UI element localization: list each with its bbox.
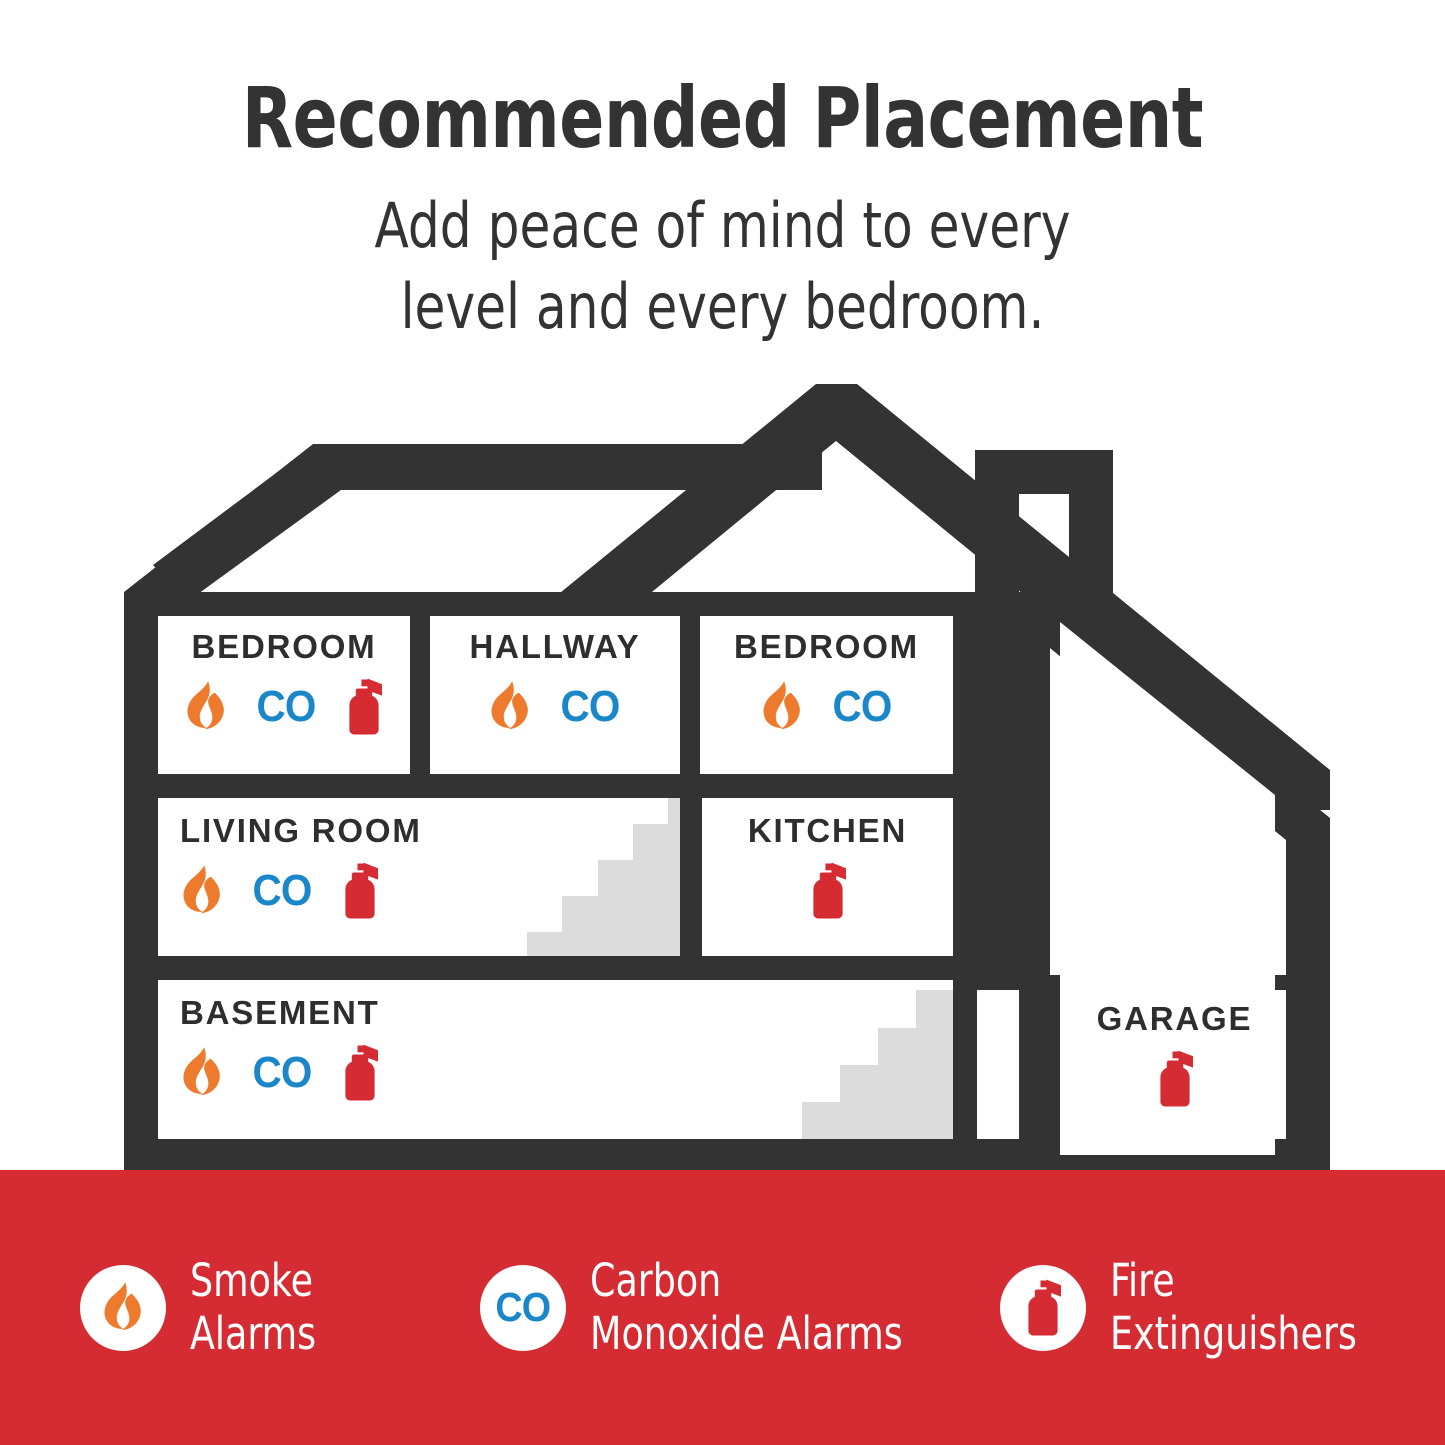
legend-circle-co: CO xyxy=(480,1265,566,1351)
room-bedroom-left[interactable]: BEDROOM CO xyxy=(158,628,410,738)
room-icons-bedroom-left: CO xyxy=(184,676,384,738)
legend-circle-extinguisher xyxy=(1000,1265,1086,1351)
fire-extinguisher-icon xyxy=(1023,1278,1063,1338)
flame-icon xyxy=(101,1281,145,1335)
room-label-bedroom-right: BEDROOM xyxy=(734,628,919,666)
co-alarm-icon: CO xyxy=(253,869,312,913)
room-icons-hallway: CO xyxy=(488,676,622,738)
co-alarm-icon: CO xyxy=(253,1051,312,1095)
legend-bar: Smoke Alarms CO Carbon Monoxide Alarms F… xyxy=(0,1170,1445,1445)
room-basement[interactable]: BASEMENT CO xyxy=(180,994,540,1104)
flame-icon xyxy=(184,680,228,734)
fire-extinguisher-icon xyxy=(340,861,380,921)
legend-label-smoke-alarms: Smoke Alarms xyxy=(190,1255,316,1360)
flame-icon xyxy=(180,864,224,918)
room-label-basement: BASEMENT xyxy=(180,994,380,1032)
legend-item-smoke-alarms[interactable]: Smoke Alarms xyxy=(80,1255,480,1360)
legend-circle-smoke xyxy=(80,1265,166,1351)
room-icons-garage xyxy=(1155,1048,1195,1110)
room-label-garage: GARAGE xyxy=(1097,1000,1253,1038)
room-garage[interactable]: GARAGE xyxy=(1063,1000,1286,1110)
flame-icon xyxy=(760,680,804,734)
legend-label-co-alarms: Carbon Monoxide Alarms xyxy=(590,1255,903,1360)
room-hallway[interactable]: HALLWAY CO xyxy=(430,628,680,738)
legend-item-co-alarms[interactable]: CO Carbon Monoxide Alarms xyxy=(480,1255,1000,1360)
co-alarm-icon: CO xyxy=(257,685,316,729)
right-wing-lower-gap xyxy=(977,990,1019,1139)
fire-extinguisher-icon xyxy=(808,861,848,921)
room-living-room[interactable]: LIVING ROOM CO xyxy=(180,812,540,922)
flame-icon xyxy=(180,1046,224,1100)
fire-extinguisher-icon xyxy=(340,1043,380,1103)
room-label-hallway: HALLWAY xyxy=(470,628,641,666)
infographic-canvas: Recommended Placement Add peace of mind … xyxy=(0,0,1445,1445)
legend-item-fire-extinguishers[interactable]: Fire Extinguishers xyxy=(1000,1255,1420,1360)
fire-extinguisher-icon xyxy=(344,677,384,737)
room-icons-basement: CO xyxy=(180,1042,380,1104)
co-alarm-icon: CO xyxy=(832,685,891,729)
legend-items: Smoke Alarms CO Carbon Monoxide Alarms F… xyxy=(0,1255,1445,1360)
co-text-icon: CO xyxy=(496,1284,551,1331)
legend-label-fire-extinguishers: Fire Extinguishers xyxy=(1110,1255,1357,1360)
fire-extinguisher-icon xyxy=(1155,1049,1195,1109)
room-label-living-room: LIVING ROOM xyxy=(180,812,422,850)
room-kitchen[interactable]: KITCHEN xyxy=(702,812,953,922)
room-bedroom-right[interactable]: BEDROOM CO xyxy=(700,628,953,738)
room-icons-kitchen xyxy=(808,860,848,922)
room-label-kitchen: KITCHEN xyxy=(748,812,907,850)
room-icons-bedroom-right: CO xyxy=(760,676,894,738)
room-label-bedroom-left: BEDROOM xyxy=(192,628,377,666)
flame-icon xyxy=(488,680,532,734)
co-alarm-icon: CO xyxy=(561,685,620,729)
room-icons-living-room: CO xyxy=(180,860,380,922)
